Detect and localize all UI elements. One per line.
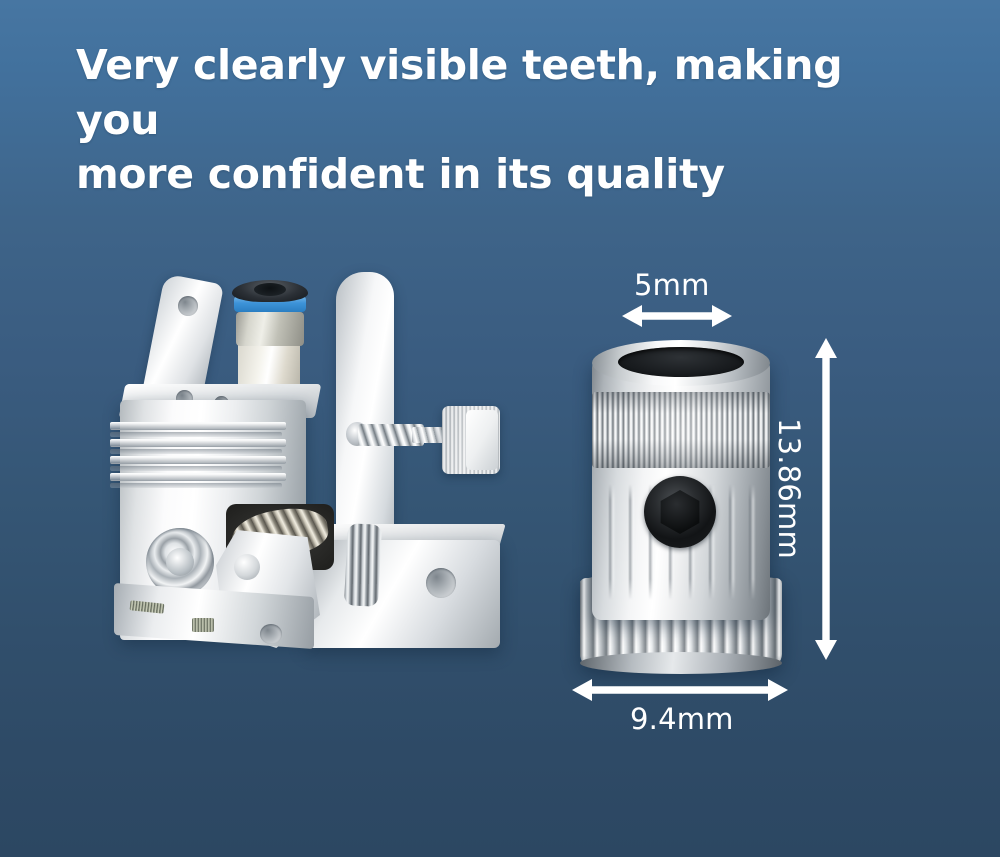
extruder-assembly-image bbox=[108, 272, 500, 682]
heatsink-fin bbox=[110, 422, 286, 430]
heatsink-fin bbox=[110, 439, 286, 447]
heatsink-gap bbox=[110, 483, 282, 488]
dimension-label-top: 5mm bbox=[634, 268, 710, 302]
headline-text: Very clearly visible teeth, making you m… bbox=[76, 38, 906, 202]
heatsink-gap bbox=[110, 466, 282, 471]
knurl-detail bbox=[192, 618, 214, 632]
coupler-bore bbox=[254, 283, 286, 296]
heatsink-fin bbox=[110, 473, 286, 481]
dimension-label-bottom: 9.4mm bbox=[630, 702, 734, 736]
double-arrow-vertical-icon bbox=[812, 338, 840, 660]
double-arrow-horizontal-icon bbox=[572, 676, 788, 704]
knurl-specular-highlight bbox=[592, 392, 770, 468]
gear-base-bottom-face bbox=[580, 652, 782, 674]
drive-gear-image bbox=[578, 334, 784, 672]
thumbscrew-face bbox=[466, 410, 498, 470]
double-arrow-horizontal-icon bbox=[622, 302, 732, 330]
mounting-hole bbox=[178, 296, 198, 316]
gear-bore-opening bbox=[618, 347, 744, 377]
heatsink-gap bbox=[110, 449, 282, 454]
base-mounting-hole bbox=[426, 568, 456, 598]
coupler-hex-body bbox=[236, 312, 304, 346]
bearing-inner-race bbox=[166, 548, 194, 576]
gear-knurled-teeth-band bbox=[592, 392, 770, 468]
dimension-label-right: 13.86mm bbox=[772, 418, 806, 559]
heatsink-gap bbox=[110, 432, 282, 437]
base-thread-hole bbox=[260, 624, 282, 644]
heatsink-fin bbox=[110, 456, 286, 464]
product-feature-banner: Very clearly visible teeth, making you m… bbox=[0, 0, 1000, 857]
idler-pivot-pin bbox=[234, 554, 260, 580]
idler-gear-knurl bbox=[344, 523, 382, 607]
